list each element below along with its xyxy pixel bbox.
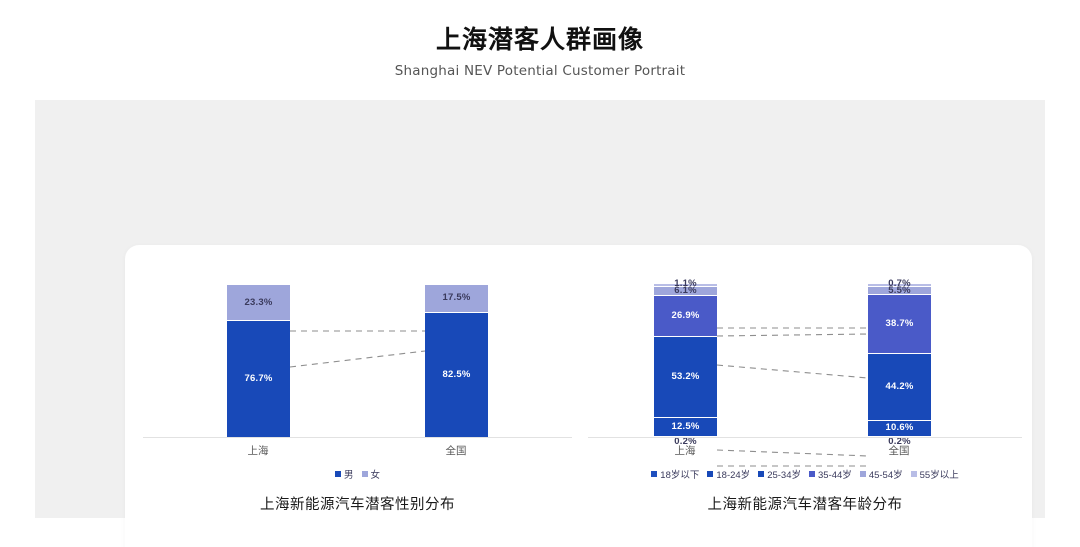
gender-category-shanghai: 上海 xyxy=(213,443,303,458)
legend-swatch-icon xyxy=(335,471,341,477)
age-column-shanghai: 1.1% 6.1% 26.9% 53.2% 12.5% xyxy=(654,284,717,437)
legend-label: 18-24岁 xyxy=(716,467,750,481)
legend-label: 女 xyxy=(371,467,381,481)
page-title: 上海潜客人群画像 xyxy=(0,24,1080,56)
legend-label: 25-34岁 xyxy=(767,467,801,481)
segment-value: 23.3% xyxy=(245,298,273,308)
legend-swatch-icon xyxy=(362,471,368,477)
legend-item-male[interactable]: 男 xyxy=(335,467,354,481)
segment-value: 76.7% xyxy=(245,374,273,384)
gender-axis-line xyxy=(143,437,572,438)
legend-swatch-icon xyxy=(860,471,866,477)
page-header: 上海潜客人群画像 Shanghai NEV Potential Customer… xyxy=(0,24,1080,81)
page-root: 上海潜客人群画像 Shanghai NEV Potential Customer… xyxy=(0,0,1080,547)
gender-column-national: 17.5% 82.5% xyxy=(425,285,488,437)
gender-plot-area: 23.3% 76.7% 17.5% 82.5% xyxy=(135,285,580,437)
segment-value: 12.5% xyxy=(672,422,700,432)
gender-column-shanghai: 23.3% 76.7% xyxy=(227,285,290,437)
gender-category-national: 全国 xyxy=(411,443,501,458)
gender-segment-female-shanghai: 23.3% xyxy=(227,285,290,320)
legend-label: 45-54岁 xyxy=(869,467,903,481)
gender-legend: 男 女 xyxy=(135,467,580,481)
gender-chart: 23.3% 76.7% 17.5% 82.5% xyxy=(135,245,580,547)
connector-2 xyxy=(717,334,868,336)
charts-card: 23.3% 76.7% 17.5% 82.5% xyxy=(125,245,1032,547)
legend-swatch-icon xyxy=(707,471,713,477)
segment-value: 26.9% xyxy=(672,311,700,321)
content-panel: 23.3% 76.7% 17.5% 82.5% xyxy=(35,100,1045,518)
age-segment-18-24-shanghai: 12.5% xyxy=(654,417,717,436)
age-chart-caption: 上海新能源汽车潜客年龄分布 xyxy=(580,493,1030,514)
age-segment-18-24-national: 10.6% xyxy=(868,420,931,436)
segment-value: 17.5% xyxy=(443,293,471,303)
age-legend: 18岁以下 18-24岁 25-34岁 35-44岁 xyxy=(580,467,1030,481)
legend-swatch-icon xyxy=(651,471,657,477)
age-category-national: 全国 xyxy=(854,443,944,458)
segment-value: 82.5% xyxy=(443,370,471,380)
legend-item-25-34[interactable]: 25-34岁 xyxy=(758,467,801,481)
connector-4 xyxy=(717,450,868,456)
legend-item-female[interactable]: 女 xyxy=(362,467,381,481)
age-segment-45-54-national: 5.5% xyxy=(868,286,931,294)
age-segment-35-44-national: 38.7% xyxy=(868,294,931,353)
legend-item-45-54[interactable]: 45-54岁 xyxy=(860,467,903,481)
gender-segment-female-national: 17.5% xyxy=(425,285,488,312)
legend-item-under18[interactable]: 18岁以下 xyxy=(651,467,699,481)
legend-item-35-44[interactable]: 35-44岁 xyxy=(809,467,852,481)
legend-label: 男 xyxy=(344,467,354,481)
legend-label: 55岁以上 xyxy=(920,467,959,481)
legend-label: 18岁以下 xyxy=(660,467,699,481)
legend-label: 35-44岁 xyxy=(818,467,852,481)
connector-mid xyxy=(290,351,425,367)
connector-3 xyxy=(717,365,868,378)
segment-value: 38.7% xyxy=(886,319,914,329)
gender-segment-male-national: 82.5% xyxy=(425,312,488,437)
age-segment-25-34-national: 44.2% xyxy=(868,353,931,420)
age-segment-35-44-shanghai: 26.9% xyxy=(654,295,717,336)
gender-segment-male-shanghai: 76.7% xyxy=(227,320,290,437)
page-subtitle: Shanghai NEV Potential Customer Portrait xyxy=(0,61,1080,81)
segment-value: 44.2% xyxy=(886,382,914,392)
legend-swatch-icon xyxy=(758,471,764,477)
segment-value: 53.2% xyxy=(672,372,700,382)
age-chart: 1.1% 6.1% 26.9% 53.2% 12.5% xyxy=(580,245,1030,547)
age-category-shanghai: 上海 xyxy=(640,443,730,458)
legend-item-18-24[interactable]: 18-24岁 xyxy=(707,467,750,481)
age-segment-25-34-shanghai: 53.2% xyxy=(654,336,717,417)
age-segment-45-54-shanghai: 6.1% xyxy=(654,286,717,295)
legend-swatch-icon xyxy=(809,471,815,477)
legend-swatch-icon xyxy=(911,471,917,477)
age-plot-area: 1.1% 6.1% 26.9% 53.2% 12.5% xyxy=(580,285,1030,437)
age-column-national: 0.7% 5.5% 38.7% 44.2% 10.6% xyxy=(868,284,931,437)
age-axis-line xyxy=(588,437,1022,438)
segment-value: 10.6% xyxy=(886,423,914,433)
legend-item-55plus[interactable]: 55岁以上 xyxy=(911,467,959,481)
gender-chart-caption: 上海新能源汽车潜客性别分布 xyxy=(135,493,580,514)
gender-connector-lines xyxy=(135,325,580,477)
